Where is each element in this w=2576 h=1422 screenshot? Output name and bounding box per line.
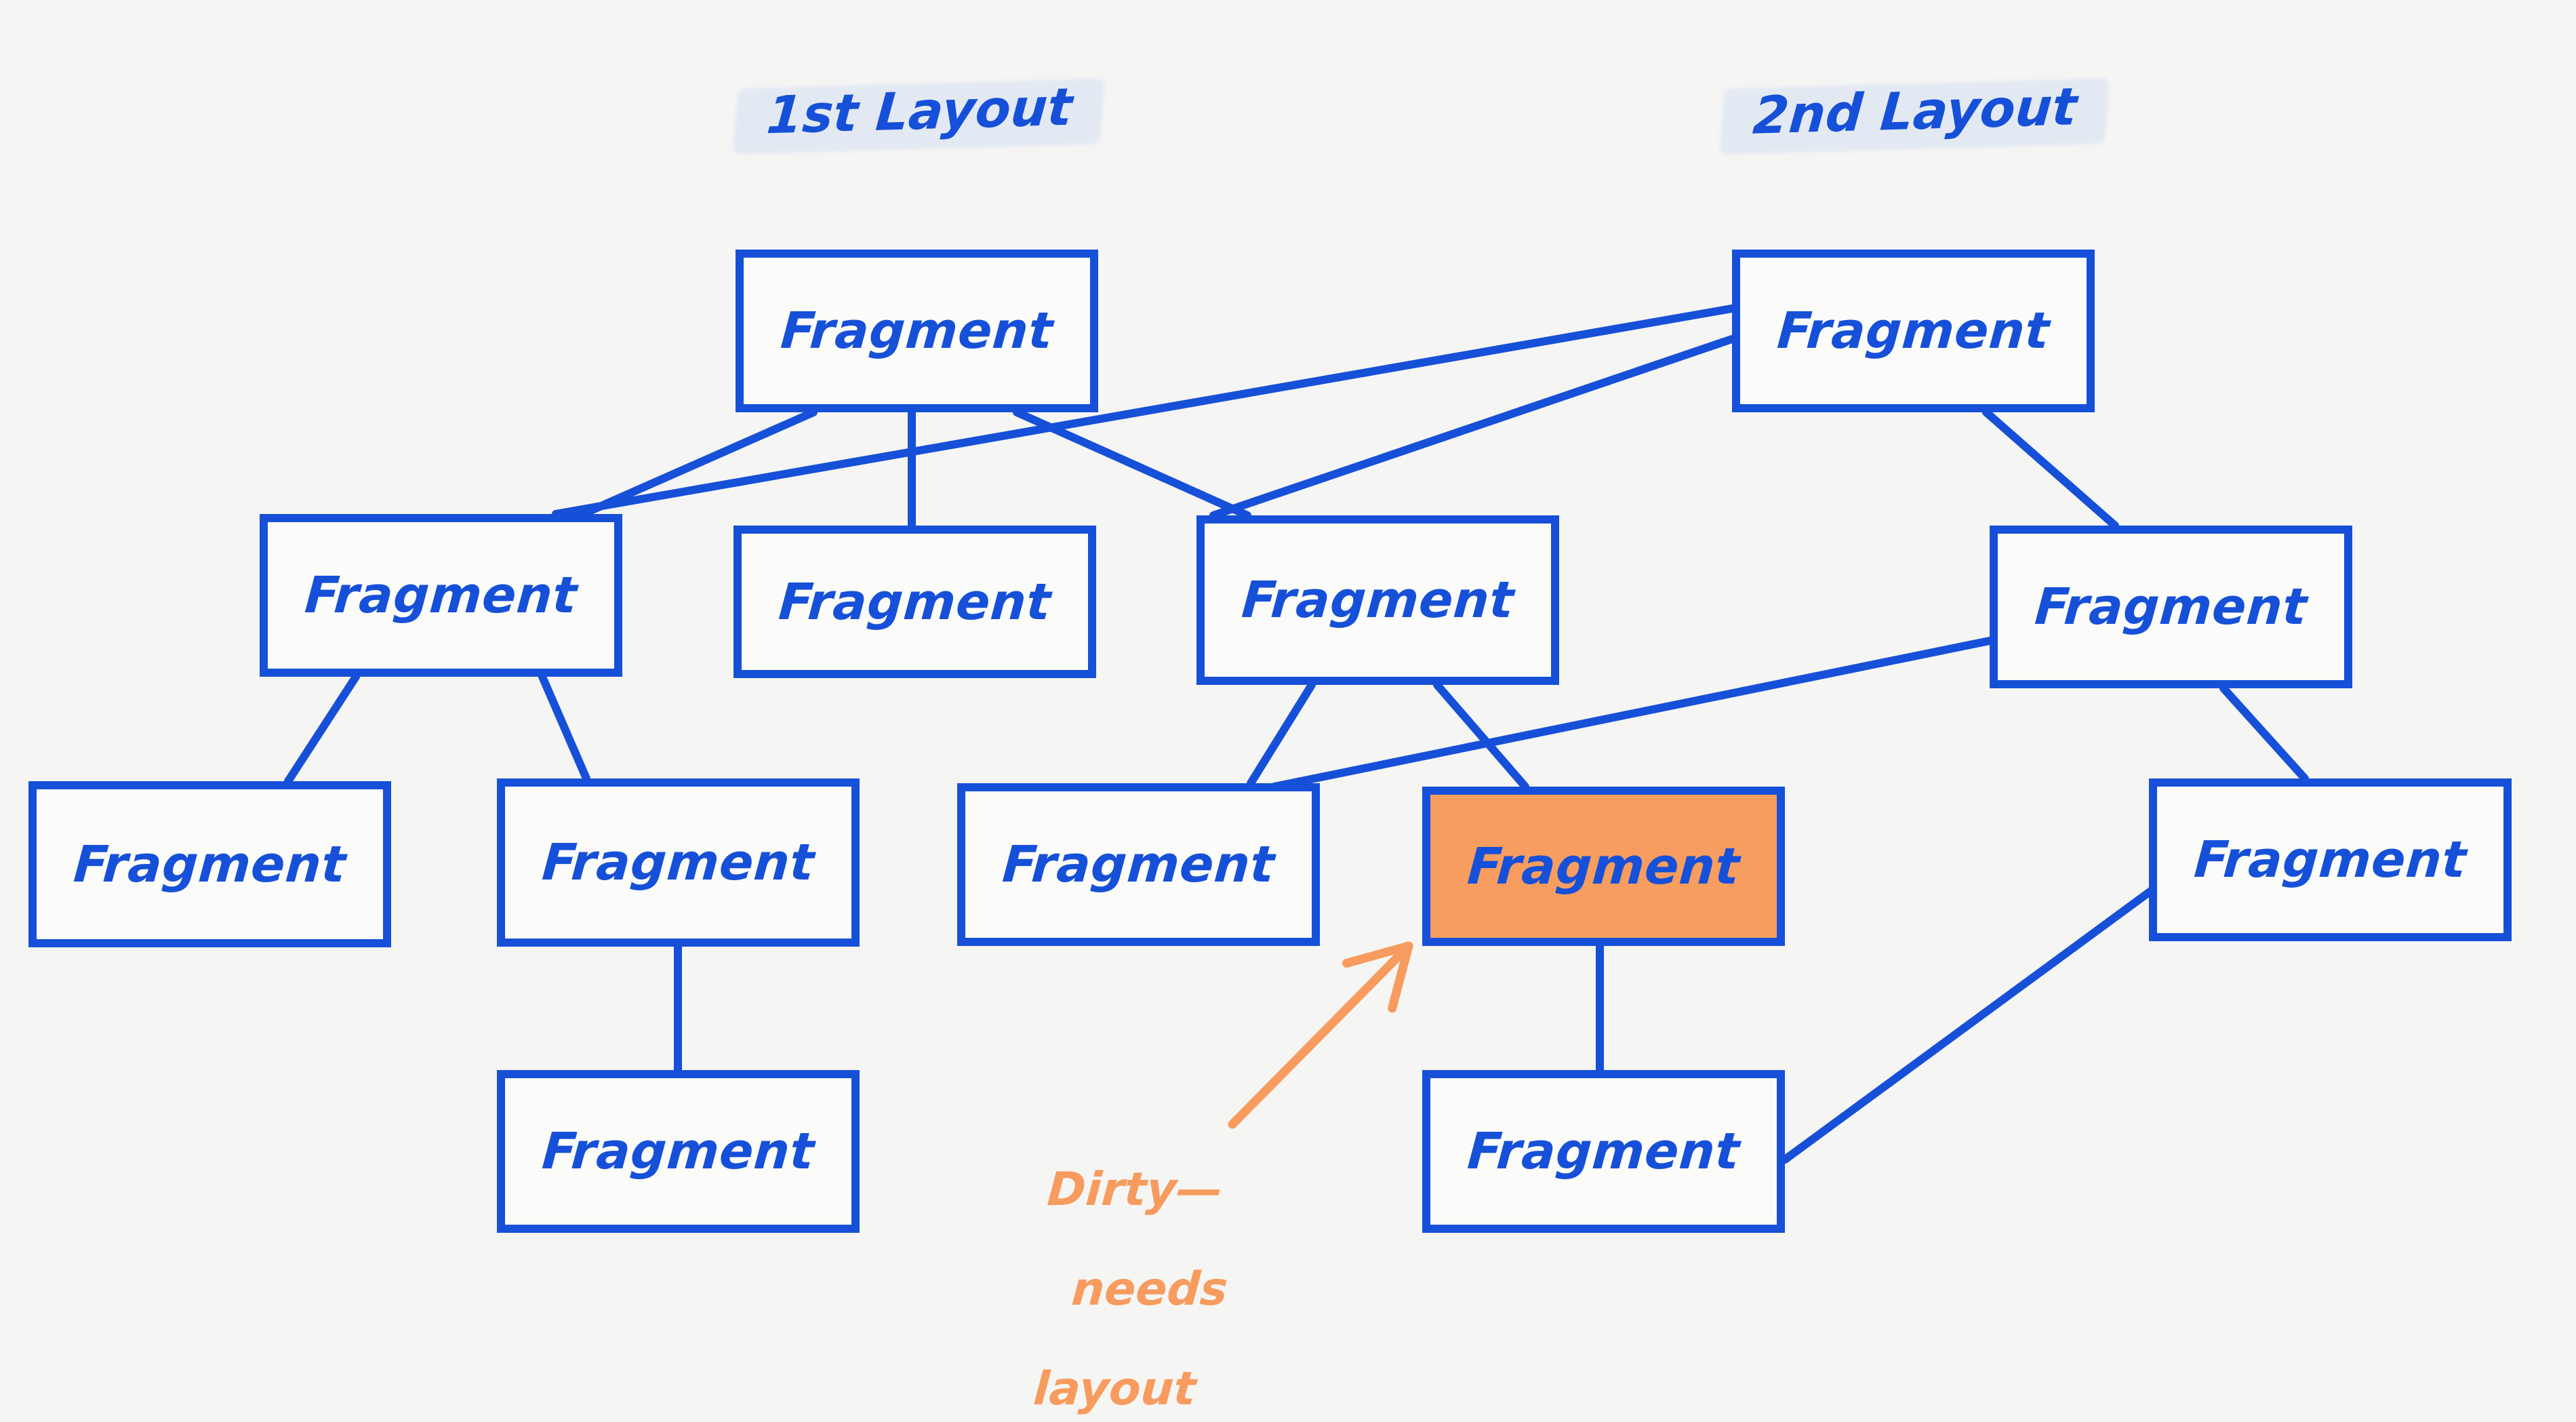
- edge-n-a-root-to-n-a-l2-1: [583, 412, 813, 514]
- fragment-node-label: Fragment: [779, 302, 1055, 360]
- fragment-node-label: Fragment: [777, 573, 1053, 631]
- title-2nd-layout: 2nd Layout: [1718, 66, 2111, 160]
- fragment-node-label: Fragment: [540, 833, 816, 892]
- fragment-node-label: Fragment: [1240, 571, 1516, 629]
- edge-n-a-l2-1-to-n-a-l3-1: [288, 677, 356, 781]
- dirty-arrow-head-2: [1346, 946, 1409, 963]
- edge-n-b-root-to-n-b-l2-1: [1986, 412, 2115, 526]
- dirty-annotation-line-2: needs: [1039, 1265, 1229, 1314]
- fragment-node-label: Fragment: [1001, 835, 1276, 894]
- fragment-node-label: Fragment: [2033, 578, 2309, 636]
- edge-n-b-l2-1-to-n-b-l3-1: [2223, 688, 2305, 778]
- fragment-node-b-l3-1[interactable]: Fragment: [2149, 778, 2512, 941]
- edge-n-a-l2-3-to-n-dirty: [1437, 685, 1525, 787]
- dirty-arrow-shaft: [1232, 946, 1409, 1124]
- edge-n-a-root-to-n-a-l2-3: [1017, 412, 1247, 515]
- edge-n-a-l2-1-to-n-a-l3-2: [542, 677, 586, 778]
- fragment-node-a-l2-1[interactable]: Fragment: [260, 514, 622, 677]
- fragment-node-b-l2-1[interactable]: Fragment: [1990, 526, 2352, 688]
- fragment-node-b-root[interactable]: Fragment: [1732, 250, 2095, 412]
- fragment-node-label: Fragment: [72, 835, 348, 894]
- fragment-node-label: Fragment: [540, 1122, 816, 1181]
- fragment-node-b-l4-1[interactable]: Fragment: [1422, 1070, 1785, 1233]
- edge-n-b-root-to-n-a-l2-1: [556, 309, 1732, 514]
- fragment-node-a-root[interactable]: Fragment: [736, 250, 1098, 412]
- fragment-node-a-l2-3[interactable]: Fragment: [1196, 515, 1559, 685]
- edge-n-b-root-to-n-a-l2-3: [1213, 339, 1732, 515]
- title-1st-layout-text: 1st Layout: [765, 77, 1074, 146]
- fragment-node-label: Fragment: [303, 566, 579, 625]
- diagram-canvas: 1st Layout 2nd Layout Fragment Fragment …: [0, 0, 2576, 1422]
- title-2nd-layout-text: 2nd Layout: [1751, 76, 2079, 146]
- dirty-annotation: Dirty— needs layout: [1028, 1115, 1240, 1422]
- dirty-arrow-head-1: [1392, 946, 1409, 1008]
- edge-n-b-l3-1-to-n-b-l4-1: [1785, 885, 2159, 1160]
- title-1st-layout: 1st Layout: [732, 66, 1106, 159]
- fragment-node-a-l3-1[interactable]: Fragment: [28, 781, 391, 947]
- fragment-node-label: Fragment: [2192, 831, 2468, 889]
- fragment-node-dirty[interactable]: Fragment: [1422, 787, 1785, 946]
- edge-layer: [0, 0, 2576, 1422]
- fragment-node-a-l4-1[interactable]: Fragment: [497, 1070, 860, 1233]
- dirty-annotation-line-3: layout: [1032, 1364, 1222, 1414]
- edge-n-a-l2-3-to-n-a-l3-3: [1251, 685, 1312, 783]
- dirty-annotation-line-1: Dirty—: [1046, 1165, 1236, 1214]
- fragment-node-a-l2-2[interactable]: Fragment: [733, 526, 1096, 678]
- fragment-node-a-l3-2[interactable]: Fragment: [497, 778, 860, 947]
- fragment-node-a-l3-3[interactable]: Fragment: [957, 783, 1320, 946]
- fragment-node-label: Fragment: [1775, 302, 2051, 360]
- fragment-node-label: Fragment: [1466, 837, 1742, 896]
- fragment-node-label: Fragment: [1466, 1122, 1742, 1181]
